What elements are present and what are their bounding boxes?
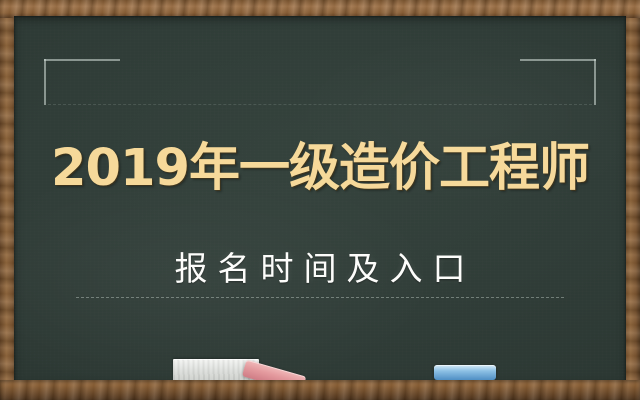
- dashed-rule-bottom: [76, 297, 564, 298]
- poster-title: 2019年一级造价工程师: [14, 140, 626, 198]
- bracket-right-horizontal-line: [520, 59, 596, 61]
- wooden-frame-right-rail: [624, 0, 640, 400]
- bracket-left-vertical-line: [44, 59, 46, 105]
- dashed-rule-top: [48, 104, 592, 105]
- chalkboard-poster: 2019年一级造价工程师 报名时间及入口: [0, 0, 640, 400]
- bracket-right-vertical-line: [594, 59, 596, 105]
- bracket-left-horizontal-line: [44, 59, 120, 61]
- poster-subtitle: 报名时间及入口: [14, 249, 626, 289]
- pink-chalk-stick: [242, 360, 306, 382]
- blue-chalk-stick: [434, 365, 496, 380]
- wooden-frame-bottom-ledge: [0, 380, 640, 400]
- chalkboard-surface: 2019年一级造价工程师 报名时间及入口: [14, 16, 626, 382]
- corner-bracket-left-icon: [44, 59, 120, 105]
- corner-bracket-right-icon: [520, 59, 596, 105]
